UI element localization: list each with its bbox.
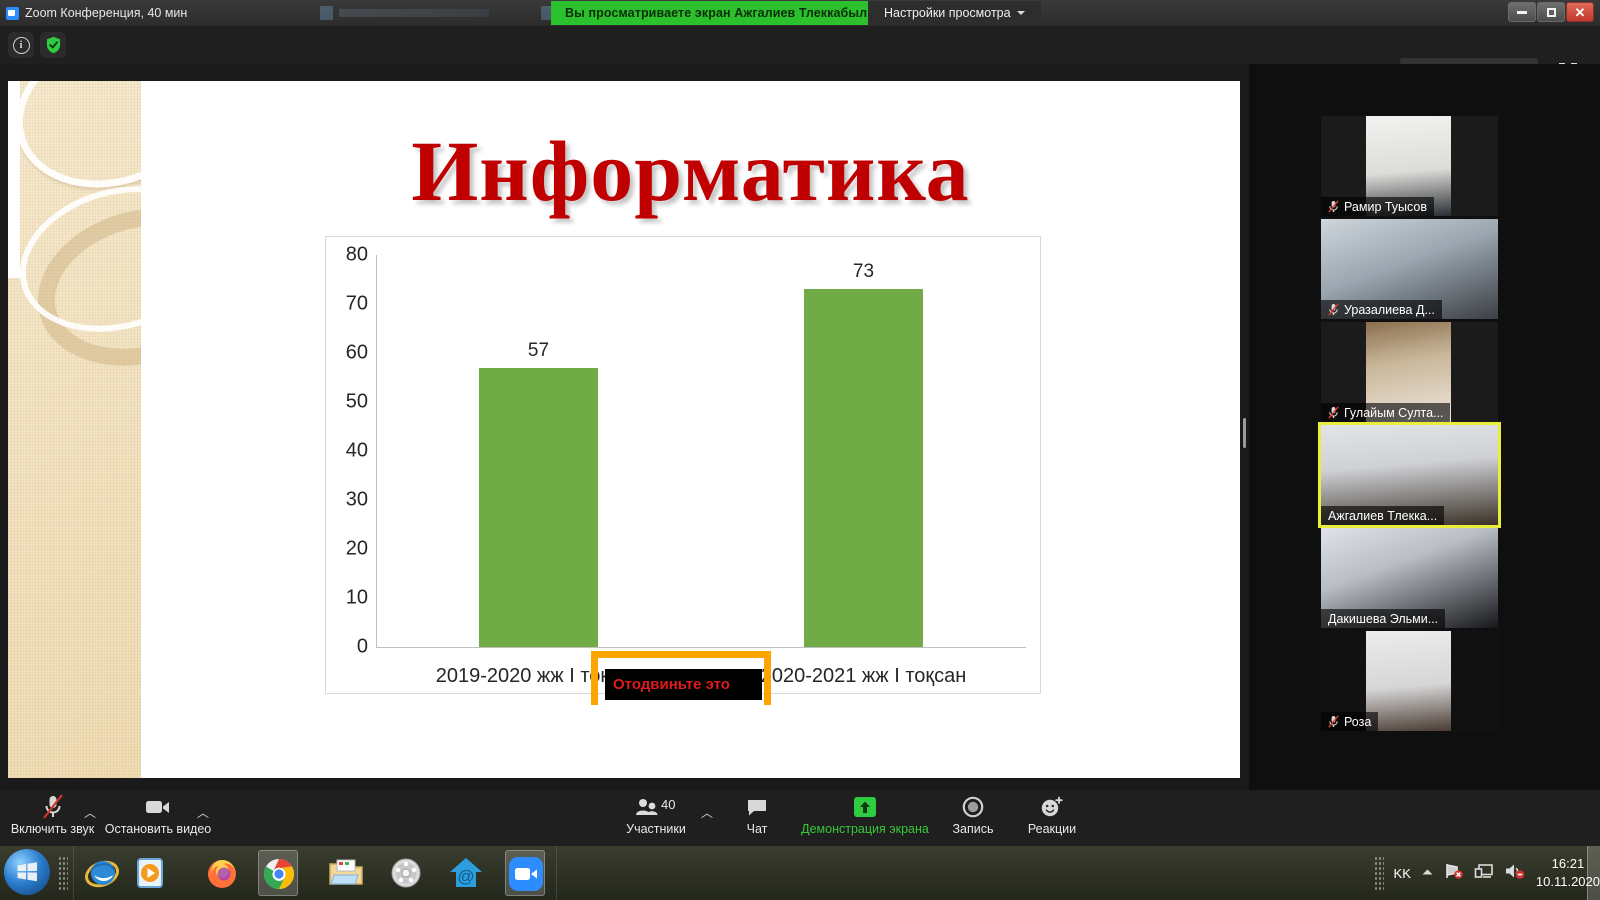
y-axis-tick: 50 [326, 391, 368, 414]
info-icon: i [13, 37, 30, 54]
zoom-top-bar: i Вид докладчика [0, 26, 1600, 64]
background-tab-icon [320, 6, 333, 20]
participant-video-inset [1366, 631, 1451, 731]
participant-thumbnail[interactable]: Роза [1321, 631, 1498, 731]
video-options-caret[interactable]: ︿ [196, 806, 210, 820]
y-axis-line [376, 255, 377, 648]
mic-muted-icon [1328, 406, 1339, 419]
volume-muted-icon[interactable] [1504, 862, 1526, 885]
audio-options-caret[interactable]: ︿ [83, 806, 97, 820]
chevron-down-icon [1017, 11, 1025, 15]
system-tray: KK [1374, 846, 1600, 900]
chat-button[interactable]: Чат [726, 795, 788, 843]
display-icon[interactable] [1474, 862, 1494, 885]
shared-screen-stage: Информатика 01020304050607080 5773 2019-… [0, 64, 1320, 790]
dvd-disc-icon[interactable] [386, 853, 426, 893]
shield-check-icon [45, 36, 62, 54]
meeting-info-button[interactable]: i [8, 32, 34, 58]
participant-name-bar: Дакишева Эльми... [1321, 609, 1445, 628]
svg-text:40: 40 [661, 797, 675, 812]
mail-home-icon[interactable]: @ [446, 853, 486, 893]
camera-icon [145, 795, 171, 819]
record-label: Запись [952, 823, 993, 836]
screen-share-banner: Вы просматриваете экран Ажгалиев Тлеккаб… [551, 1, 881, 25]
chat-bubble-icon [746, 795, 768, 819]
stop-video-label: Остановить видео [105, 823, 212, 836]
firefox-icon[interactable] [202, 853, 242, 893]
media-player-icon[interactable] [130, 853, 170, 893]
windows-start-icon[interactable] [4, 849, 50, 895]
decoration-ring-3 [8, 164, 141, 354]
participant-thumbnail[interactable]: Гулайым Султа... [1321, 322, 1498, 422]
y-axis-tick: 10 [326, 587, 368, 610]
y-axis-tick: 60 [326, 342, 368, 365]
participant-name-bar: Ажгалиев Тлекка... [1321, 506, 1444, 525]
google-chrome-icon[interactable] [258, 850, 298, 896]
mic-muted-icon [1328, 715, 1339, 728]
participant-thumbnail[interactable]: Рамир Туысов [1321, 116, 1498, 216]
participant-strip: Рамир ТуысовУразалиева Д...Гулайым Султа… [1249, 64, 1600, 790]
share-screen-button[interactable]: Демонстрация экрана [795, 795, 935, 843]
chevron-up-icon[interactable] [1421, 864, 1434, 882]
minimize-icon [1517, 11, 1527, 14]
bar-data-label: 57 [528, 340, 549, 362]
bar-data-label: 73 [853, 261, 874, 283]
maximize-button[interactable] [1537, 2, 1565, 22]
view-settings-label: Настройки просмотра [884, 6, 1011, 20]
view-settings-button[interactable]: Настройки просмотра [868, 1, 1041, 25]
show-desktop-button[interactable] [1587, 846, 1600, 900]
reactions-button[interactable]: Реакции [1016, 795, 1088, 843]
participant-name-bar: Уразалиева Д... [1321, 300, 1442, 319]
windows-taskbar: @ KK [0, 846, 1600, 900]
bar [804, 289, 923, 647]
y-axis-tick: 40 [326, 440, 368, 463]
participant-name: Дакишева Эльми... [1328, 612, 1438, 626]
y-axis-tick: 20 [326, 538, 368, 561]
meeting-toolbar: Включить звук ︿ Остановить видео ︿ 40 [0, 790, 1600, 846]
window-title-bar: Zoom Конференция, 40 мин Вы просматривае… [0, 0, 1600, 26]
slide-decoration [8, 81, 141, 778]
chart-plot-area: 01020304050607080 5773 2019-2020 жж I то… [326, 237, 1042, 695]
mic-muted-icon [1328, 200, 1339, 213]
chat-label: Чат [747, 823, 768, 836]
smiley-plus-icon [1040, 795, 1064, 819]
x-axis-label: 2020-2021 жж I тоқсан [761, 665, 967, 688]
participant-name: Гулайым Султа... [1344, 406, 1443, 420]
participant-thumbnail[interactable]: Уразалиева Д... [1321, 219, 1498, 319]
unmute-label: Включить звук [11, 823, 94, 836]
svg-text:@: @ [457, 867, 474, 886]
zoom-icon [6, 7, 19, 20]
close-button[interactable]: ✕ [1566, 2, 1594, 22]
slide-title: Информатика [141, 121, 1240, 221]
participants-label: Участники [626, 823, 686, 836]
internet-explorer-icon[interactable] [82, 853, 122, 893]
bar [479, 368, 598, 647]
background-tab-text [339, 9, 489, 17]
window-title: Zoom Конференция, 40 мин [25, 6, 187, 20]
mic-muted-icon [41, 795, 65, 819]
participant-name: Ажгалиев Тлекка... [1328, 509, 1437, 523]
participant-name-bar: Гулайым Султа... [1321, 403, 1450, 422]
participants-options-caret[interactable]: ︿ [700, 806, 714, 820]
record-circle-icon [962, 795, 984, 819]
y-axis-tick: 70 [326, 293, 368, 316]
participant-thumbnail[interactable]: Дакишева Эльми... [1321, 528, 1498, 628]
panel-resize-handle[interactable] [1243, 418, 1246, 448]
drag-annotation-label[interactable]: Отодвиньте это [605, 669, 762, 700]
participant-name-bar: Рамир Туысов [1321, 197, 1434, 216]
tray-grip [1374, 856, 1384, 890]
minimize-button[interactable] [1508, 2, 1536, 22]
window-controls: ✕ [1508, 2, 1594, 22]
mic-muted-icon [1328, 303, 1339, 316]
share-screen-label: Демонстрация экрана [801, 823, 929, 836]
restore-icon [1547, 8, 1556, 17]
bar-chart: 01020304050607080 5773 2019-2020 жж I то… [325, 236, 1041, 694]
encryption-button[interactable] [40, 32, 66, 58]
participant-thumbnail[interactable]: Ажгалиев Тлекка... [1321, 425, 1498, 525]
participants-icon: 40 [634, 795, 678, 819]
powerpoint-slide: Информатика 01020304050607080 5773 2019-… [8, 81, 1240, 778]
participants-button[interactable]: 40 Участники [620, 795, 692, 843]
participant-name: Рамир Туысов [1344, 200, 1427, 214]
y-axis-tick: 30 [326, 489, 368, 512]
slide-decoration-notch [8, 81, 20, 278]
participant-name: Уразалиева Д... [1344, 303, 1435, 317]
network-error-icon[interactable] [1444, 862, 1464, 885]
language-indicator[interactable]: KK [1394, 866, 1411, 881]
reactions-label: Реакции [1028, 823, 1076, 836]
y-axis-tick: 80 [326, 244, 368, 267]
file-explorer-icon[interactable] [326, 853, 366, 893]
y-axis-tick: 0 [326, 636, 368, 659]
share-screen-icon [852, 795, 878, 819]
zoom-icon[interactable] [505, 850, 545, 896]
taskbar-grip [58, 856, 68, 890]
close-icon: ✕ [1575, 6, 1586, 19]
participant-name-bar: Роза [1321, 712, 1378, 731]
x-axis-line [376, 647, 1026, 648]
participant-name: Роза [1344, 715, 1371, 729]
record-button[interactable]: Запись [938, 795, 1008, 843]
